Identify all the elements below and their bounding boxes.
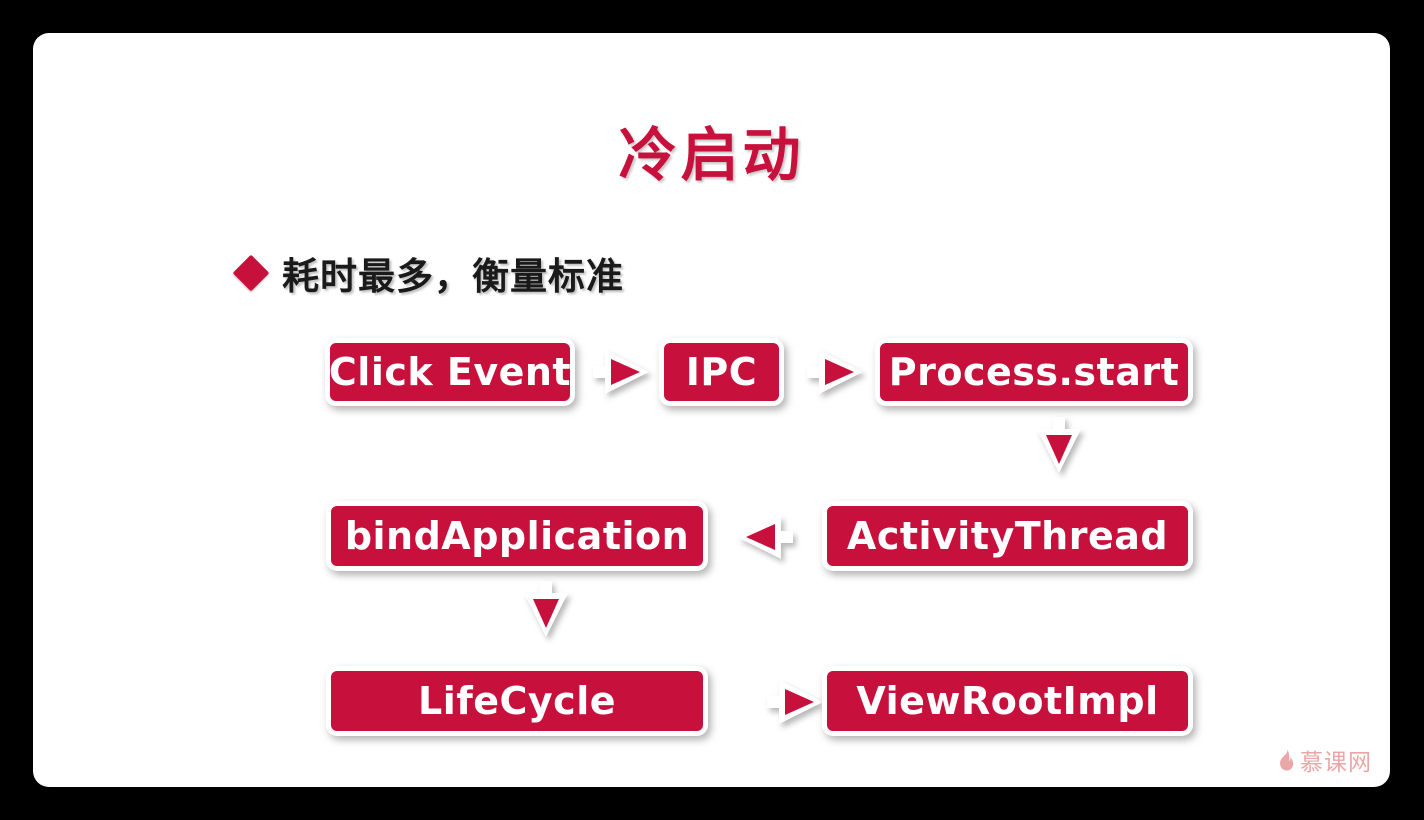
arrow-right-icon-click-to-ipc bbox=[591, 346, 653, 398]
flow-node-process-start[interactable]: Process.start bbox=[875, 338, 1193, 406]
arrow-down-icon-process-to-activitythread bbox=[1033, 415, 1085, 477]
arrow-right-icon-lifecycle-to-viewrootimpl bbox=[765, 676, 827, 728]
flowchart: Click Event IPC Process.start bindApplic… bbox=[33, 33, 1390, 787]
flow-node-lifecycle[interactable]: LifeCycle bbox=[326, 666, 708, 736]
watermark: 慕课网 bbox=[1278, 743, 1372, 777]
flow-node-click-event[interactable]: Click Event bbox=[325, 338, 575, 406]
flame-icon bbox=[1278, 749, 1295, 771]
arrow-down-icon-bindapplication-to-lifecycle bbox=[520, 579, 572, 641]
arrow-right-icon-ipc-to-process bbox=[805, 346, 867, 398]
flow-node-viewrootimpl[interactable]: ViewRootImpl bbox=[822, 666, 1193, 736]
watermark-label: 慕课网 bbox=[1300, 743, 1372, 777]
flow-node-ipc[interactable]: IPC bbox=[659, 338, 784, 406]
flow-node-bindapplication[interactable]: bindApplication bbox=[326, 501, 708, 571]
arrow-left-icon-activitythread-to-bindapplication bbox=[733, 511, 795, 563]
slide-canvas: 冷启动 耗时最多，衡量标准 Click Event IPC Process.st… bbox=[33, 33, 1390, 787]
flow-node-activitythread[interactable]: ActivityThread bbox=[822, 501, 1193, 571]
